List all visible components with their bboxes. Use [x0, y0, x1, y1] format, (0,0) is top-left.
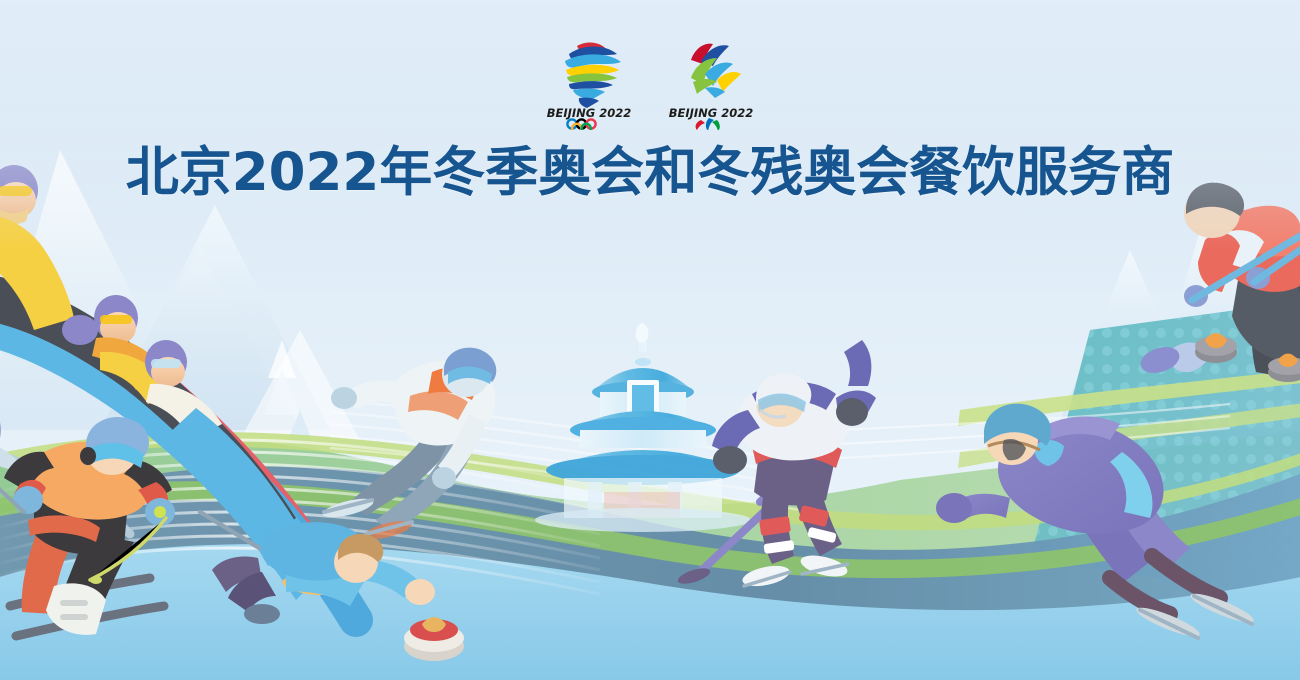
- paralympic-wordmark: BEIJING 2022: [669, 106, 754, 120]
- olympic-wordmark: BEIJING 2022: [547, 106, 632, 120]
- page-title: 北京2022年冬季奥会和冬残奥会餐饮服务商: [0, 146, 1300, 199]
- emblem-row: BEIJING 2022: [0, 30, 1300, 135]
- olympic-rings-icon: [567, 119, 595, 130]
- beijing-2022-olympic-emblem: BEIJING 2022: [539, 30, 639, 130]
- beijing-2022-paralympic-emblem: BEIJING 2022: [661, 30, 761, 130]
- beijing-2022-catering-banner: BEIJING 2022: [0, 0, 1300, 680]
